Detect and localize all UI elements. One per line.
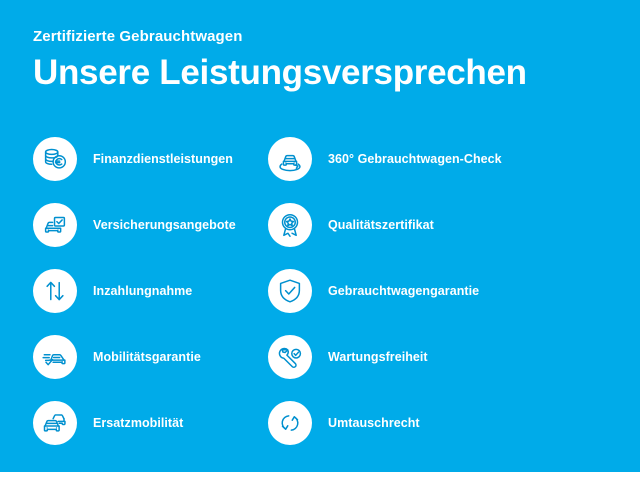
feature-label: Mobilitätsgarantie xyxy=(93,350,201,365)
promo-panel: Zertifizierte Gebrauchtwagen Unsere Leis… xyxy=(0,0,640,472)
feature-item-ersatzmobilitaet: Ersatzmobilität xyxy=(0,390,235,456)
feature-label: Wartungsfreiheit xyxy=(328,350,428,365)
feature-label: Versicherungsangebote xyxy=(93,218,236,233)
coins-euro-icon xyxy=(33,137,77,181)
award-star-icon xyxy=(268,203,312,247)
feature-label: Finanzdienstleistungen xyxy=(93,152,233,167)
feature-label: Gebrauchtwagengarantie xyxy=(328,284,479,299)
car-speed-check-icon xyxy=(33,335,77,379)
feature-item-versicherungsangebote: Versicherungsangebote xyxy=(0,192,235,258)
page-title: Unsere Leistungsversprechen xyxy=(33,51,613,94)
shield-check-icon xyxy=(268,269,312,313)
feature-label: 360° Gebrauchtwagen-Check xyxy=(328,152,502,167)
feature-item-wartungsfreiheit: Wartungsfreiheit xyxy=(235,324,640,390)
exchange-arrows-icon xyxy=(268,401,312,445)
car-checkbox-icon xyxy=(33,203,77,247)
feature-item-mobilitaetsgarantie: Mobilitätsgarantie xyxy=(0,324,235,390)
car-360-rotation-icon xyxy=(268,137,312,181)
eyebrow-text: Zertifizierte Gebrauchtwagen xyxy=(33,27,613,47)
two-cars-icon xyxy=(33,401,77,445)
header-block: Zertifizierte Gebrauchtwagen Unsere Leis… xyxy=(33,27,613,94)
feature-item-inzahlungnahme: Inzahlungnahme xyxy=(0,258,235,324)
wrench-screwdriver-check-icon xyxy=(268,335,312,379)
arrows-up-down-icon xyxy=(33,269,77,313)
feature-item-360-gebrauchtwagen-check: 360° Gebrauchtwagen-Check xyxy=(235,126,640,192)
feature-item-finanzdienstleistungen: Finanzdienstleistungen xyxy=(0,126,235,192)
feature-label: Qualitätszertifikat xyxy=(328,218,434,233)
features-grid: Finanzdienstleistungen 360° Gebrauchtwag… xyxy=(0,126,640,456)
feature-item-gebrauchtwagengarantie: Gebrauchtwagengarantie xyxy=(235,258,640,324)
feature-item-umtauschrecht: Umtauschrecht xyxy=(235,390,640,456)
feature-label: Umtauschrecht xyxy=(328,416,420,431)
feature-label: Ersatzmobilität xyxy=(93,416,183,431)
feature-label: Inzahlungnahme xyxy=(93,284,192,299)
feature-item-qualitaetszertifikat: Qualitätszertifikat xyxy=(235,192,640,258)
